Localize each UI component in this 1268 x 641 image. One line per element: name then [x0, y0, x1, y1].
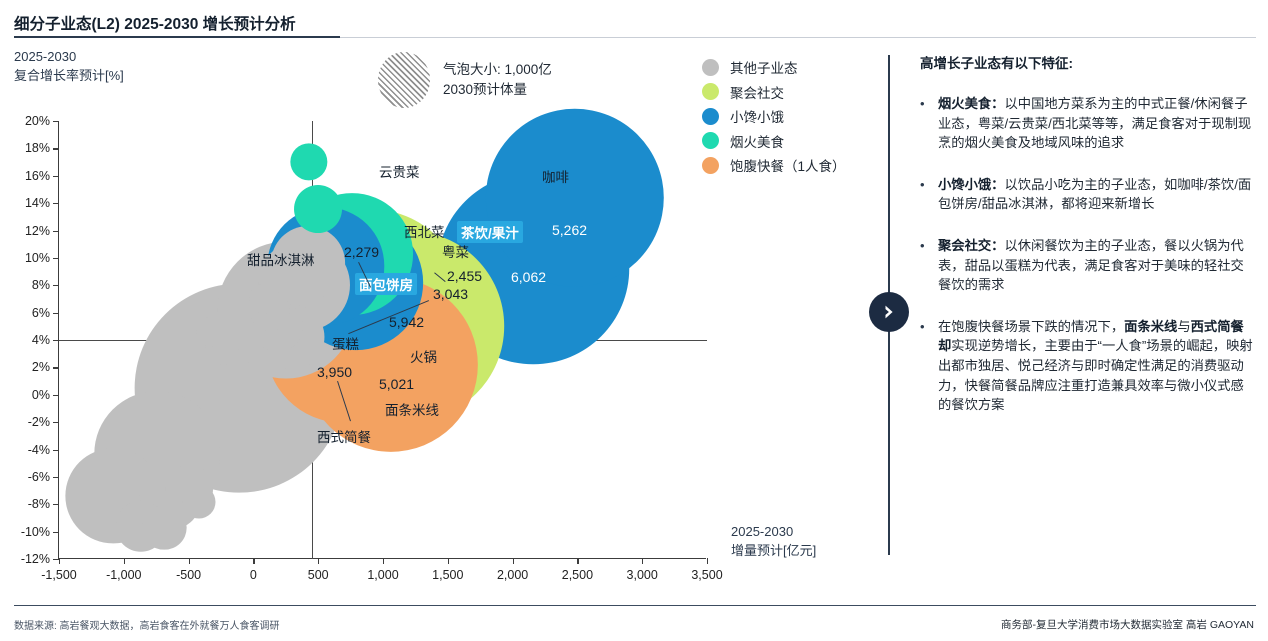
bubble-label: 火锅 — [410, 346, 437, 366]
insight-item: •小馋小饿：以饮品小吃为主的子业态，如咖啡/茶饮/面包饼房/甜品冰淇淋，都将迎来… — [920, 175, 1256, 214]
y-axis-tick-label: 12% — [25, 224, 50, 238]
bullet-icon: • — [920, 236, 938, 295]
y-axis-tick-mark — [53, 313, 59, 314]
insights-panel-title: 高增长子业态有以下特征: — [920, 52, 1256, 72]
y-axis-tick-mark — [53, 121, 59, 122]
footer-source: 数据来源: 高岩餐观大数据，高岩食客在外就餐万人食客调研 — [14, 617, 280, 632]
hatched-circle-icon — [378, 52, 430, 108]
x-axis-tick-mark — [383, 558, 384, 564]
legend-item-label: 其他子业态 — [730, 57, 798, 77]
x-axis-caption-line1: 2025-2030 — [731, 522, 816, 541]
bubble-size-legend: 气泡大小: 1,000亿 2030预计体量 — [378, 52, 552, 108]
insight-item-text: 烟火美食：以中国地方菜系为主的中式正餐/休闲餐子业态，粤菜/云贵菜/西北菜等等，… — [938, 94, 1256, 153]
y-axis-tick-label: -10% — [21, 525, 50, 539]
y-axis-tick-mark — [53, 422, 59, 423]
y-axis-tick-label: 10% — [25, 251, 50, 265]
bubble-chart: 20%18%16%14%12%10%8%6%4%2%0%-2%-4%-6%-8%… — [0, 110, 720, 580]
bubble-label: 3,950 — [317, 364, 352, 380]
insight-item: •在饱腹快餐场景下跌的情况下，面条米线与西式简餐却实现逆势增长，主要由于“一人食… — [920, 317, 1256, 415]
legend-item-label: 小馋小饿 — [730, 106, 784, 126]
y-axis-tick-label: -4% — [28, 443, 50, 457]
x-axis-tick-label: 2,500 — [562, 568, 593, 582]
bubble-label: 西式简餐 — [317, 426, 371, 446]
insight-item-text: 在饱腹快餐场景下跌的情况下，面条米线与西式简餐却实现逆势增长，主要由于“一人食”… — [938, 317, 1256, 415]
y-axis-tick-label: -2% — [28, 415, 50, 429]
bubble-label: 5,942 — [389, 314, 424, 330]
legend-item[interactable]: 聚会社交 — [702, 80, 846, 105]
header-divider — [340, 37, 1256, 38]
bubble-label: 3,043 — [433, 286, 468, 302]
insight-item: •烟火美食：以中国地方菜系为主的中式正餐/休闲餐子业态，粤菜/云贵菜/西北菜等等… — [920, 94, 1256, 153]
y-axis-caption-line1: 2025-2030 — [14, 47, 124, 66]
y-axis-tick-label: -8% — [28, 497, 50, 511]
x-axis-tick-mark — [707, 558, 708, 564]
title-underline — [14, 36, 340, 38]
bubble-label: 西北菜 — [404, 221, 445, 241]
y-axis-tick-label: 20% — [25, 114, 50, 128]
legend-item-label: 烟火美食 — [730, 131, 784, 151]
bubble-咖啡[interactable] — [486, 108, 664, 286]
bubble-label: 粤菜 — [442, 241, 469, 261]
x-axis-tick-label: 3,000 — [627, 568, 658, 582]
legend-item-label: 饱腹快餐（1人食） — [730, 155, 846, 175]
y-axis-tick-label: 16% — [25, 169, 50, 183]
x-axis-tick-mark — [59, 558, 60, 564]
legend-item-label: 聚会社交 — [730, 82, 784, 102]
plot-area: 20%18%16%14%12%10%8%6%4%2%0%-2%-4%-6%-8%… — [58, 121, 706, 559]
x-axis-tick-mark — [448, 558, 449, 564]
y-axis-tick-mark — [53, 504, 59, 505]
x-axis-tick-label: 3,500 — [691, 568, 722, 582]
y-axis-tick-mark — [53, 148, 59, 149]
bubble-label: 2,455 — [447, 268, 482, 284]
bubble-label: 甜品冰淇淋 — [247, 249, 315, 269]
category-legend: 其他子业态聚会社交小馋小饿烟火美食饱腹快餐（1人食） — [702, 55, 846, 178]
y-axis-tick-label: 14% — [25, 196, 50, 210]
title-bar: 细分子业态(L2) 2025-2030 增长预计分析 — [14, 12, 344, 34]
x-axis-tick-label: 0 — [250, 568, 257, 582]
y-axis-tick-mark — [53, 340, 59, 341]
insight-item-text: 小馋小饿：以饮品小吃为主的子业态，如咖啡/茶饮/面包饼房/甜品冰淇淋，都将迎来新… — [938, 175, 1256, 214]
footer-credit: 商务部-复旦大学消费市场大数据实验室 高岩 GAOYAN — [1001, 617, 1254, 632]
y-axis-tick-mark — [53, 367, 59, 368]
insight-item-text: 聚会社交：以休闲餐饮为主的子业态，餐以火锅为代表，甜品以蛋糕为代表，满足食客对于… — [938, 236, 1256, 295]
x-axis-tick-label: 1,500 — [432, 568, 463, 582]
y-axis-tick-label: 0% — [32, 388, 50, 402]
bubble-label: 6,062 — [511, 269, 546, 285]
bubble-label: 茶饮/果汁 — [457, 221, 523, 243]
y-axis-tick-label: 18% — [25, 141, 50, 155]
x-axis-caption: 2025-2030 增量预计[亿元] — [731, 522, 816, 560]
x-axis-tick-label: -1,500 — [41, 568, 76, 582]
y-axis-tick-mark — [53, 450, 59, 451]
legend-item[interactable]: 小馋小饿 — [702, 104, 846, 129]
bubble-label: 云贵菜 — [379, 161, 420, 181]
bubble-other[interactable] — [142, 505, 187, 550]
y-axis-tick-mark — [53, 231, 59, 232]
bubble-other[interactable] — [182, 485, 215, 518]
legend-item[interactable]: 其他子业态 — [702, 55, 846, 80]
x-axis-tick-label: 2,000 — [497, 568, 528, 582]
y-axis-tick-label: 2% — [32, 360, 50, 374]
bubble-西北菜[interactable] — [294, 185, 342, 233]
bullet-icon: • — [920, 94, 938, 153]
insight-item: •聚会社交：以休闲餐饮为主的子业态，餐以火锅为代表，甜品以蛋糕为代表，满足食客对… — [920, 236, 1256, 295]
y-axis-tick-label: 6% — [32, 306, 50, 320]
bubble-label: 面条米线 — [381, 398, 443, 420]
y-axis-tick-label: 8% — [32, 278, 50, 292]
bubble-size-legend-text: 气泡大小: 1,000亿 2030预计体量 — [443, 60, 552, 100]
y-axis-tick-mark — [53, 285, 59, 286]
y-axis-tick-label: -12% — [21, 552, 50, 566]
y-axis-caption: 2025-2030 复合增长率预计[%] — [14, 47, 124, 85]
footer-divider — [14, 605, 1256, 606]
bubble-label: 5,021 — [379, 376, 414, 392]
bubble-size-legend-line2: 2030预计体量 — [443, 80, 552, 100]
y-axis-tick-mark — [53, 395, 59, 396]
legend-item[interactable]: 饱腹快餐（1人食） — [702, 153, 846, 178]
bubble-other[interactable] — [249, 284, 279, 314]
y-axis-tick-mark — [53, 176, 59, 177]
y-axis-tick-mark — [53, 532, 59, 533]
insights-list: •烟火美食：以中国地方菜系为主的中式正餐/休闲餐子业态，粤菜/云贵菜/西北菜等等… — [920, 94, 1256, 415]
y-axis-tick-mark — [53, 203, 59, 204]
y-axis-caption-line2: 复合增长率预计[%] — [14, 66, 124, 85]
x-axis-tick-mark — [253, 558, 254, 564]
x-axis-tick-label: -500 — [176, 568, 201, 582]
page-title: 细分子业态(L2) 2025-2030 增长预计分析 — [14, 12, 344, 34]
chevron-right-icon[interactable] — [869, 292, 909, 332]
bubble-云贵菜[interactable] — [290, 143, 327, 180]
y-axis-tick-label: 4% — [32, 333, 50, 347]
x-axis-tick-mark — [318, 558, 319, 564]
insights-panel: 高增长子业态有以下特征: •烟火美食：以中国地方菜系为主的中式正餐/休闲餐子业态… — [920, 52, 1256, 415]
y-axis-tick-mark — [53, 477, 59, 478]
bubble-label: 咖啡 — [542, 166, 569, 186]
x-axis-tick-label: -1,000 — [106, 568, 141, 582]
y-axis-tick-mark — [53, 258, 59, 259]
x-axis-tick-mark — [124, 558, 125, 564]
x-axis-tick-mark — [642, 558, 643, 564]
x-axis-tick-mark — [577, 558, 578, 564]
bubble-label: 蛋糕 — [332, 333, 359, 353]
x-axis-tick-mark — [189, 558, 190, 564]
bullet-icon: • — [920, 317, 938, 415]
legend-color-swatch — [702, 59, 719, 76]
x-axis-tick-label: 500 — [308, 568, 329, 582]
x-axis-caption-line2: 增量预计[亿元] — [731, 541, 816, 560]
legend-color-swatch — [702, 83, 719, 100]
legend-item[interactable]: 烟火美食 — [702, 129, 846, 154]
bubble-label: 5,262 — [552, 222, 587, 238]
bubble-other[interactable] — [196, 317, 226, 347]
x-axis-tick-label: 1,000 — [367, 568, 398, 582]
y-axis-tick-label: -6% — [28, 470, 50, 484]
bubble-size-legend-line1: 气泡大小: 1,000亿 — [443, 60, 552, 80]
x-axis-tick-mark — [513, 558, 514, 564]
bullet-icon: • — [920, 175, 938, 214]
bubble-label: 2,279 — [344, 244, 379, 260]
